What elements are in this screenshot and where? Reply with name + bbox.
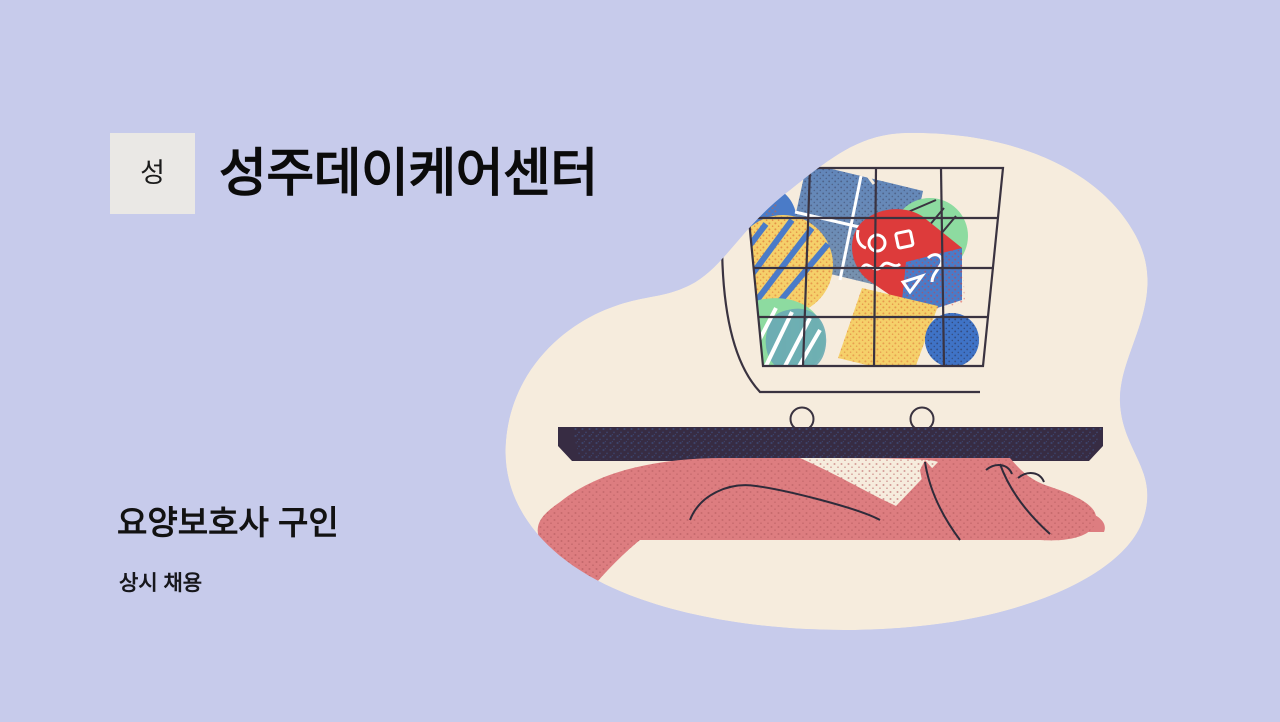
avatar-initial: 성	[140, 160, 165, 187]
job-posting-card: 성 성주데이케어센터 요양보호사 구인 상시 채용	[0, 0, 1280, 722]
avatar: 성	[110, 133, 195, 214]
card-content: 성 성주데이케어센터 요양보호사 구인 상시 채용	[0, 0, 1280, 722]
job-title: 요양보호사 구인	[117, 505, 339, 541]
job-subtitle: 상시 채용	[119, 572, 202, 595]
company-name: 성주데이케어센터	[219, 148, 598, 200]
company-header: 성 성주데이케어센터	[110, 133, 598, 214]
